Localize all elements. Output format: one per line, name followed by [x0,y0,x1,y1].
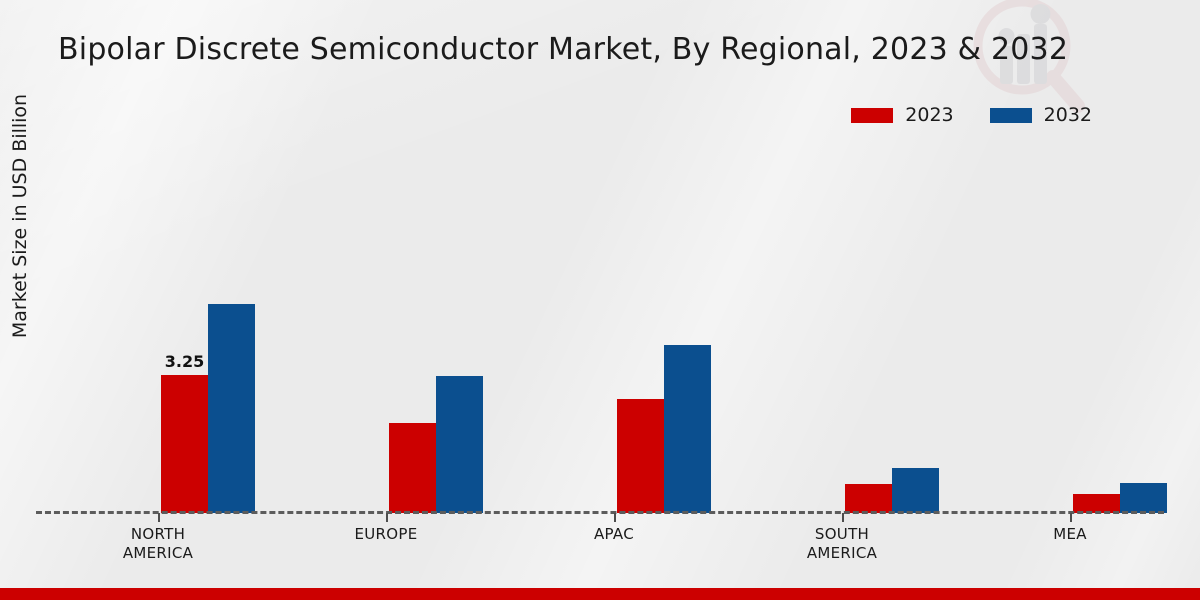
x-axis-label-europe: EUROPE [276,525,496,544]
bar-2023-north-america[interactable]: 3.25 [161,375,208,513]
x-axis-tick-apac [614,513,616,522]
x-axis-label-south-america-line1: SOUTH [732,525,952,544]
bar-2023-europe[interactable] [389,423,436,513]
legend-label-2032: 2032 [1044,104,1092,126]
chart-figure: Bipolar Discrete Semiconductor Market, B… [0,0,1200,600]
bar-group-apac [554,150,774,513]
legend-swatch-2032-icon [990,108,1032,123]
page-title: Bipolar Discrete Semiconductor Market, B… [58,32,1068,67]
y-axis-title: Market Size in USD Billion [9,46,31,386]
x-axis-tick-europe [386,513,388,522]
bar-group-europe [326,150,546,513]
bar-2032-europe[interactable] [436,376,483,513]
x-axis-label-north-america: NORTH AMERICA [48,525,268,563]
x-axis-label-south-america-line2: AMERICA [732,544,952,563]
x-axis-label-apac: APAC [504,525,724,544]
bar-2023-apac[interactable] [617,399,664,513]
legend-swatch-2023-icon [851,108,893,123]
bar-group-north-america: 3.25 [98,150,318,513]
bar-2023-south-america[interactable] [845,484,892,513]
legend-item-2032[interactable]: 2032 [990,104,1092,126]
x-axis-baseline [36,511,1164,514]
x-axis-label-north-america-line2: AMERICA [48,544,268,563]
x-axis-tick-south-america [842,513,844,522]
plot-area: 3.25 [36,150,1164,513]
footer-accent-bar [0,588,1200,600]
x-axis-label-mea-line1: MEA [960,525,1180,544]
x-axis-label-south-america: SOUTH AMERICA [732,525,952,563]
bar-group-south-america [782,150,1002,513]
bar-group-mea [1010,150,1200,513]
x-axis-label-europe-line1: EUROPE [276,525,496,544]
bar-2032-mea[interactable] [1120,483,1167,513]
bar-2032-south-america[interactable] [892,468,939,513]
x-axis-label-north-america-line1: NORTH [48,525,268,544]
legend-item-2023[interactable]: 2023 [851,104,953,126]
x-axis-tick-north-america [158,513,160,522]
bar-value-2023-north-america: 3.25 [165,352,204,371]
bar-2032-apac[interactable] [664,345,711,513]
x-axis-tick-mea [1070,513,1072,522]
x-axis-label-mea: MEA [960,525,1180,544]
bar-2032-north-america[interactable] [208,304,255,513]
x-axis-label-apac-line1: APAC [504,525,724,544]
chart-legend: 2023 2032 [851,104,1092,126]
legend-label-2023: 2023 [905,104,953,126]
